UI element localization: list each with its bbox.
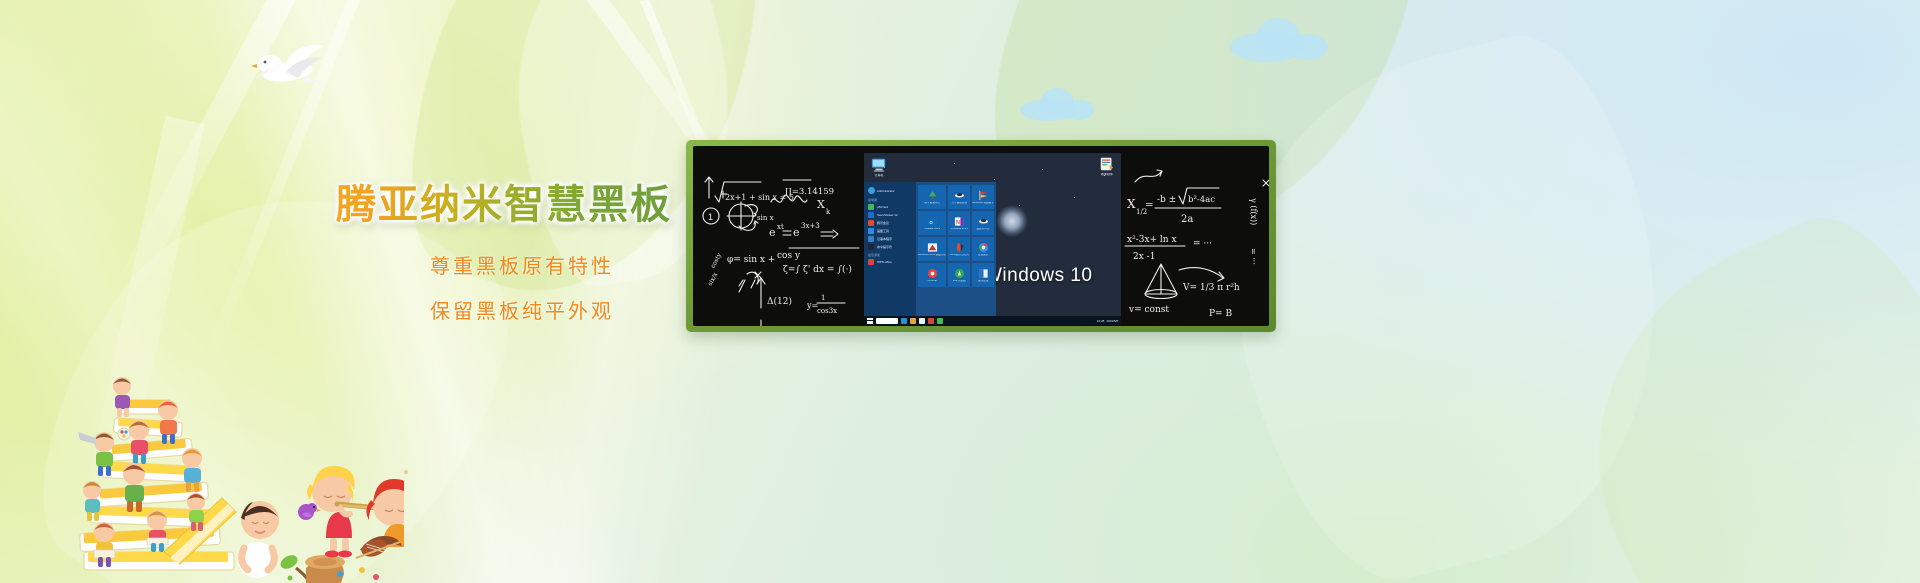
start-menu-item-label: 腾讯会议 xyxy=(877,221,889,225)
chrome-icon xyxy=(978,242,989,253)
svg-text:x²-3x+ ln x: x²-3x+ ln x xyxy=(1127,235,1177,245)
start-menu-group-label: 最近添加 xyxy=(868,253,914,257)
app-icon xyxy=(868,204,874,210)
start-menu-item-label: µTorrent xyxy=(877,205,888,209)
svg-text:2a: 2a xyxy=(1181,214,1193,225)
start-menu-item[interactable]: TeamViewer 12 xyxy=(868,212,914,218)
terminal-icon xyxy=(868,244,874,250)
svg-text:φ= sin x +: φ= sin x + xyxy=(727,255,775,265)
start-tile[interactable]: WPS演示 幻灯片 xyxy=(948,237,970,261)
svg-text:N: N xyxy=(956,219,960,225)
page-title: 腾亚纳米智慧黑板 xyxy=(336,182,672,228)
taskbar-app-icon[interactable] xyxy=(928,318,934,324)
start-menu-item-label: 记事本程序 xyxy=(877,237,892,241)
taskbar-app-icon[interactable] xyxy=(910,318,916,324)
svg-text:cos y: cos y xyxy=(777,251,801,261)
onenote-icon: N xyxy=(954,216,965,227)
desktop-icon-computer[interactable]: 计算机 xyxy=(868,157,890,178)
svg-text:2x -1: 2x -1 xyxy=(1133,252,1155,262)
start-tile[interactable]: 360 浏览器 xyxy=(948,263,970,287)
start-menu-item-label: WPS office xyxy=(877,260,892,264)
app-icon xyxy=(1098,156,1116,172)
wps-icon xyxy=(954,242,965,253)
chalk-equations-left: 2x+1 + sin x = 5 ∏=3.14159 1 sin x X k e xyxy=(699,168,869,326)
tile-label: OneNote 2013 xyxy=(948,228,970,231)
tile-label: 智慧课堂 xyxy=(972,254,994,257)
svg-text:b²-4ac: b²-4ac xyxy=(1188,195,1215,205)
cloud-icon xyxy=(978,216,989,227)
outlook-icon: o xyxy=(927,216,938,227)
app-icon xyxy=(868,236,874,242)
start-menu-item[interactable]: 记事本程序 xyxy=(868,236,914,242)
svg-text:= ···: = ··· xyxy=(1193,239,1212,249)
tile-label: AutoCAD 制图教学 xyxy=(972,202,994,205)
start-menu-group-label: 最常用 xyxy=(868,198,914,202)
svg-text:k: k xyxy=(826,208,831,216)
taskbar-app-icon[interactable] xyxy=(901,318,907,324)
svg-text:= ···: = ··· xyxy=(1249,248,1258,265)
cloud-icon xyxy=(954,190,965,201)
tile-label: Chrome xyxy=(918,280,946,283)
start-tile[interactable]: N OneNote 2013 xyxy=(948,211,970,235)
svg-text:-b ±: -b ± xyxy=(1157,195,1176,205)
svg-text:six/x: six/x xyxy=(707,271,720,287)
chrome-icon xyxy=(927,268,938,279)
svg-text:xt: xt xyxy=(777,223,784,231)
cad-icon xyxy=(927,242,938,253)
start-menu-tiles[interactable]: 教学资源平台 大学物理实验 AutoCAD 制图教学 o Outlook xyxy=(916,182,996,316)
taskbar-app-icon[interactable] xyxy=(919,318,925,324)
taskbar[interactable]: 16:28 2019/5/8 xyxy=(864,316,1121,325)
svg-text:1: 1 xyxy=(821,294,825,302)
svg-text:ζ=∫ ζ' dx = ∫(·): ζ=∫ ζ' dx = ∫(·) xyxy=(783,264,852,275)
flag-icon xyxy=(978,190,989,201)
browser-icon xyxy=(954,268,965,279)
start-menu-item[interactable]: 腾讯会议 xyxy=(868,220,914,226)
decorative-dot xyxy=(404,470,408,474)
svg-text:e: e xyxy=(769,226,776,239)
desktop-icon-app[interactable]: 教学软件 xyxy=(1096,156,1118,177)
windows-start-icon[interactable] xyxy=(867,318,873,324)
children-on-books-illustration xyxy=(44,372,404,583)
subtitle-line-2: 保留黑板纯平外观 xyxy=(392,295,652,324)
svg-text:γ (f(x)): γ (f(x)) xyxy=(1249,198,1258,225)
subtitle-line-1: 尊重黑板原有特性 xyxy=(392,250,652,279)
start-tile[interactable]: AutoCAD 2016 图纸中心 xyxy=(918,237,946,261)
tile-label: 大学物理实验 xyxy=(948,202,970,205)
start-menu-app-list[interactable]: Administrator 最常用 µTorrent TeamViewer 12 xyxy=(864,182,916,316)
svg-text:sin x: sin x xyxy=(757,214,774,222)
desktop-icon-label: 教学软件 xyxy=(1096,173,1118,177)
svg-text:1: 1 xyxy=(708,212,713,222)
svg-text:P= B: P= B xyxy=(1209,309,1232,319)
svg-text:∏=3.14159: ∏=3.14159 xyxy=(785,187,834,197)
search-input[interactable] xyxy=(876,318,898,324)
system-tray[interactable]: 16:28 2019/5/8 xyxy=(1097,319,1118,323)
svg-text:3x+3: 3x+3 xyxy=(801,222,820,230)
children-playing-music-illustration xyxy=(238,466,404,583)
app-icon xyxy=(868,220,874,226)
wps-icon xyxy=(868,259,874,265)
dove-icon xyxy=(240,34,340,94)
tile-label: Outlook 2013 xyxy=(918,228,946,231)
taskbar-app-icon[interactable] xyxy=(937,318,943,324)
start-tile[interactable]: o Outlook 2013 xyxy=(918,211,946,235)
computer-icon xyxy=(870,157,888,173)
tile-label: 数理化公式 xyxy=(972,228,994,231)
app-icon xyxy=(868,228,874,234)
svg-text:X: X xyxy=(1127,197,1136,211)
svg-text:cos3x: cos3x xyxy=(817,307,837,315)
avatar xyxy=(868,187,875,194)
start-menu-item[interactable]: WPS office xyxy=(868,259,914,265)
start-tile[interactable]: 教学资源平台 xyxy=(918,185,946,209)
svg-text:V= 1/3 π r²h: V= 1/3 π r²h xyxy=(1182,283,1240,293)
start-tile[interactable]: 课件管理 xyxy=(972,263,994,287)
svg-text:v= const: v= const xyxy=(1128,305,1169,315)
tile-label: 教学资源平台 xyxy=(918,202,946,205)
chalk-equations-right: X 1/2 = -b ± b²-4ac 2a x²-3x+ ln x 2x -1… xyxy=(1123,160,1269,326)
tile-label: 课件管理 xyxy=(972,280,994,283)
start-menu-item-label: TeamViewer 12 xyxy=(877,213,898,217)
windows-desktop[interactable]: 计算机 回收站 xyxy=(864,153,1121,325)
tile-label: WPS演示 幻灯片 xyxy=(948,254,970,257)
svg-text:Δ(12): Δ(12) xyxy=(767,296,792,307)
svg-text:costy: costy xyxy=(709,252,723,270)
tray-date: 2019/5/8 xyxy=(1106,319,1118,323)
smart-blackboard[interactable]: 2x+1 + sin x = 5 ∏=3.14159 1 sin x X k e xyxy=(686,140,1276,332)
start-menu-item-label: 画图工具 xyxy=(877,229,889,233)
svg-text:=: = xyxy=(1145,200,1153,211)
banner-text-block: 腾亚纳米智慧黑板 尊重黑板原有特性 保留黑板纯平外观 xyxy=(336,182,672,324)
svg-text:e: e xyxy=(793,226,800,239)
promo-banner: 腾亚纳米智慧黑板 尊重黑板原有特性 保留黑板纯平外观 2x+1 + sin x … xyxy=(0,0,1920,583)
blackboard-surface[interactable]: 2x+1 + sin x = 5 ∏=3.14159 1 sin x X k e xyxy=(693,146,1269,326)
office-icon xyxy=(978,268,989,279)
start-tile[interactable]: 数理化公式 xyxy=(972,211,994,235)
app-icon xyxy=(868,212,874,218)
start-tile[interactable]: Chrome xyxy=(918,263,946,287)
desktop-icon-label: 计算机 xyxy=(868,174,890,178)
user-name: Administrator xyxy=(877,189,895,193)
svg-text:X: X xyxy=(817,198,825,211)
start-menu-item-label: 命令提示符 xyxy=(877,245,892,249)
tree-icon xyxy=(927,190,938,201)
tray-clock: 16:28 xyxy=(1097,319,1105,323)
start-menu-user[interactable]: Administrator xyxy=(868,187,914,194)
start-menu-item[interactable]: µTorrent xyxy=(868,204,914,210)
wallpaper-label: Windows 10 xyxy=(984,265,1093,287)
tile-label: AutoCAD 2016 图纸中心 xyxy=(918,254,946,257)
start-menu[interactable]: Administrator 最常用 µTorrent TeamViewer 12 xyxy=(864,182,996,316)
start-tile[interactable]: AutoCAD 制图教学 xyxy=(972,185,994,209)
start-menu-item[interactable]: 画图工具 xyxy=(868,228,914,234)
start-tile[interactable]: 大学物理实验 xyxy=(948,185,970,209)
start-menu-item[interactable]: 命令提示符 xyxy=(868,244,914,250)
tile-label: 360 浏览器 xyxy=(948,280,970,283)
start-tile[interactable]: 智慧课堂 xyxy=(972,237,994,261)
